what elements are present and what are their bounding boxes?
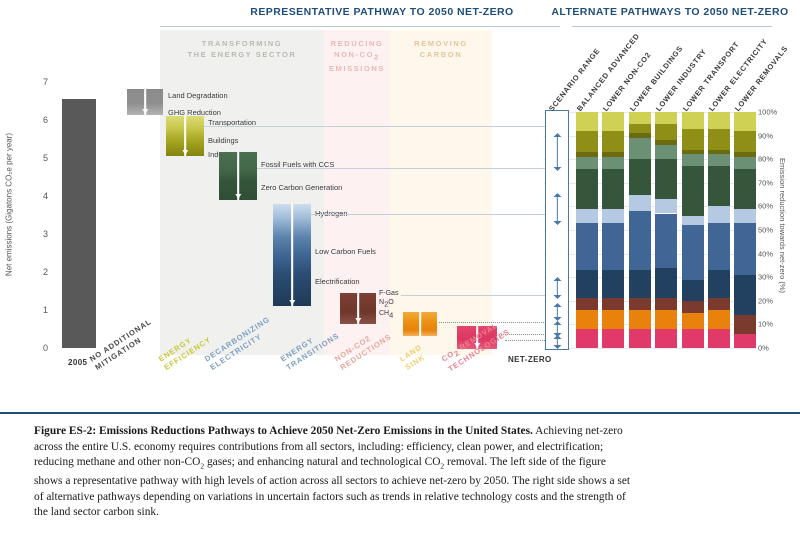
ytick-right-10: 10% [758, 320, 773, 329]
catlabel-no-additional-mitigation: NO ADDITIONALMITIGATION [88, 317, 159, 372]
bar-arrow-down [144, 93, 145, 113]
bar-segment [708, 298, 730, 310]
ytick-right-30: 30% [758, 273, 773, 282]
ytick-left-6: 6 [24, 115, 48, 125]
stacked-bar-lower-industry [655, 112, 677, 348]
bar-segment [682, 216, 704, 225]
scenario-range-box [545, 110, 569, 350]
representative-title-rule [160, 26, 560, 27]
bar-segment [602, 152, 624, 157]
stacked-bar-lower-removals [734, 112, 756, 348]
bar-segment [734, 112, 756, 131]
bar-segment [629, 124, 651, 133]
bar-segment [629, 133, 651, 138]
ytick-right-20: 20% [758, 296, 773, 305]
bar-arrow-down [184, 120, 185, 154]
bar-segment [655, 124, 677, 141]
right-axis-label: Emission reduction towards net-zero (%) [778, 158, 787, 293]
bar-segment [708, 112, 730, 129]
alt-label-lower-removals: LOWER REMOVALS [733, 44, 790, 113]
figure-caption: Figure ES-2: Emissions Reductions Pathwa… [34, 424, 634, 521]
bar-non-co2-reductions [340, 293, 376, 324]
scenario-range-arrow-4 [553, 303, 562, 321]
bar-arrow-down [291, 208, 292, 304]
ytick-left-0: 0 [24, 343, 48, 353]
alternate-title-rule [572, 26, 772, 27]
stacked-bar-lower-electricity [708, 112, 730, 348]
ytick-right-40: 40% [758, 249, 773, 258]
bar-segment [682, 150, 704, 155]
bar-segment [576, 112, 598, 131]
bar-no-additional-mitigation [127, 89, 163, 115]
bar-segment [602, 223, 624, 270]
bar-segment [708, 223, 730, 270]
bar-segment [576, 152, 598, 157]
bar-decarbonizing-electricity [219, 152, 257, 200]
band-label-carbon: REMOVING CARBON [392, 38, 490, 60]
ytick-right-90: 90% [758, 131, 773, 140]
bar-energy-transitions [273, 204, 311, 306]
bar-segment [708, 129, 730, 150]
bar-segment [576, 157, 598, 169]
bar-segment [682, 313, 704, 330]
label-f-gas: F-Gas [379, 290, 398, 297]
label-buildings: Buildings [208, 136, 238, 145]
figure-chart: REPRESENTATIVE PATHWAY TO 2050 NET-ZERO … [0, 0, 800, 410]
scenario-range-arrow-3 [553, 277, 562, 299]
band-label-energy: TRANSFORMINGTHE ENERGY SECTOR [165, 38, 319, 60]
bar-segment [682, 225, 704, 279]
bar-segment [708, 166, 730, 206]
bar-segment [682, 112, 704, 129]
bar-split-line [419, 312, 421, 336]
stacked-bar-balanced-advanced [576, 112, 598, 348]
bar-segment [734, 315, 756, 334]
bar-arrow-down [357, 297, 358, 322]
bar-segment [629, 195, 651, 212]
bar-segment [576, 329, 598, 348]
ytick-right-80: 80% [758, 155, 773, 164]
bar-segment [602, 112, 624, 131]
bar-segment [655, 199, 677, 213]
scenario-range-arrow-6 [553, 335, 562, 349]
bar-arrow-down [237, 156, 238, 198]
catlabel-2005: 2005 [68, 358, 87, 367]
caption-divider [0, 412, 800, 414]
ytick-right-0: 0% [758, 344, 769, 353]
ytick-right-70: 70% [758, 178, 773, 187]
bar-segment [655, 310, 677, 329]
label-n2o: N2O [379, 299, 394, 308]
ytick-right-50: 50% [758, 226, 773, 235]
connector-ffccs [257, 168, 564, 169]
alternate-pathways-panel: SCENARIO RANGEBALANCED ADVANCEDLOWER NON… [540, 30, 800, 360]
bar-segment [602, 131, 624, 152]
bar-segment [682, 301, 704, 313]
caption-body-2: gases; and enhancing natural and technol… [204, 456, 440, 468]
label-zero-carbon-generation: Zero Carbon Generation [261, 183, 342, 192]
bar-segment [576, 169, 598, 209]
bar-segment [629, 211, 651, 270]
bar-energy-efficiency [166, 116, 204, 156]
bar-segment [734, 152, 756, 157]
bar-segment [708, 310, 730, 329]
bar-segment [682, 154, 704, 166]
gridline-0 [544, 348, 754, 349]
bar-segment [655, 159, 677, 199]
ytick-left-1: 1 [24, 305, 48, 315]
connector-hydrogen [311, 214, 564, 215]
bar-2005 [62, 99, 96, 348]
bar-segment [734, 169, 756, 209]
left-axis-label: Net emissions (Gigatons CO₂e per year) [5, 100, 14, 310]
bar-segment [708, 329, 730, 348]
alternate-pathways-title: ALTERNATE PATHWAYS TO 2050 NET-ZERO [545, 6, 795, 18]
bar-segment [708, 150, 730, 155]
bar-segment [655, 140, 677, 145]
ytick-right-60: 60% [758, 202, 773, 211]
ytick-left-2: 2 [24, 267, 48, 277]
ytick-left-3: 3 [24, 229, 48, 239]
bar-segment [734, 334, 756, 348]
bar-segment [629, 112, 651, 124]
bar-segment [708, 154, 730, 166]
representative-pathway-title: REPRESENTATIVE PATHWAY TO 2050 NET-ZERO [222, 6, 542, 18]
bar-segment [655, 214, 677, 268]
bar-segment [576, 270, 598, 298]
bar-segment [602, 310, 624, 329]
bar-land-sink [403, 312, 437, 336]
bar-segment [576, 209, 598, 223]
bar-segment [734, 275, 756, 315]
bar-segment [655, 268, 677, 299]
label-electrification: Electrification [315, 277, 360, 286]
band-label-nonco2: REDUCINGNON-CO2EMISSIONS [326, 38, 388, 74]
band-removing-carbon [390, 30, 492, 355]
label-land-degradation: Land Degradation [168, 91, 228, 100]
bar-segment [682, 129, 704, 150]
bar-segment [682, 280, 704, 301]
bar-segment [602, 329, 624, 348]
bar-segment [602, 270, 624, 298]
bar-segment [655, 298, 677, 310]
bar-segment [655, 112, 677, 124]
ytick-left-4: 4 [24, 191, 48, 201]
bar-segment [734, 157, 756, 169]
bar-segment [576, 298, 598, 310]
bar-segment [629, 270, 651, 298]
bar-segment [629, 138, 651, 159]
bar-segment [655, 145, 677, 159]
stacked-bar-lower-transport [682, 112, 704, 348]
bar-segment [682, 166, 704, 216]
alt-label-scenario-range: SCENARIO RANGE [547, 46, 602, 113]
caption-title: Figure ES-2: Emissions Reductions Pathwa… [34, 425, 533, 437]
scenario-range-arrow-1 [553, 133, 562, 171]
alt-label-lower-non-co2: LOWER NON-CO2 [601, 50, 653, 113]
bar-segment [629, 298, 651, 310]
bar-segment [708, 270, 730, 298]
label-low-carbon-fuels: Low Carbon Fuels [315, 247, 376, 256]
ytick-left-5: 5 [24, 153, 48, 163]
ytick-right-100: 100% [758, 108, 777, 117]
bar-segment [734, 209, 756, 223]
bar-segment [629, 159, 651, 194]
ytick-left-7: 7 [24, 77, 48, 87]
label-ch4: CH4 [379, 310, 393, 319]
bar-segment [734, 131, 756, 152]
bar-segment [576, 131, 598, 152]
bar-segment [655, 329, 677, 348]
bar-segment [602, 298, 624, 310]
bar-segment [602, 209, 624, 223]
bar-segment [682, 329, 704, 348]
bar-segment [734, 223, 756, 275]
alt-label-lower-industry: LOWER INDUSTRY [654, 47, 708, 113]
bar-segment [576, 310, 598, 329]
bar-segment [602, 169, 624, 209]
bar-segment [576, 223, 598, 270]
bar-segment [629, 329, 651, 348]
bar-segment [629, 310, 651, 329]
stacked-bar-lower-buildings [629, 112, 651, 348]
bar-segment [708, 206, 730, 223]
scenario-range-arrow-2 [553, 193, 562, 225]
bar-segment [602, 157, 624, 169]
stacked-bar-lower-non-co2 [602, 112, 624, 348]
connector-transportation [204, 126, 564, 127]
